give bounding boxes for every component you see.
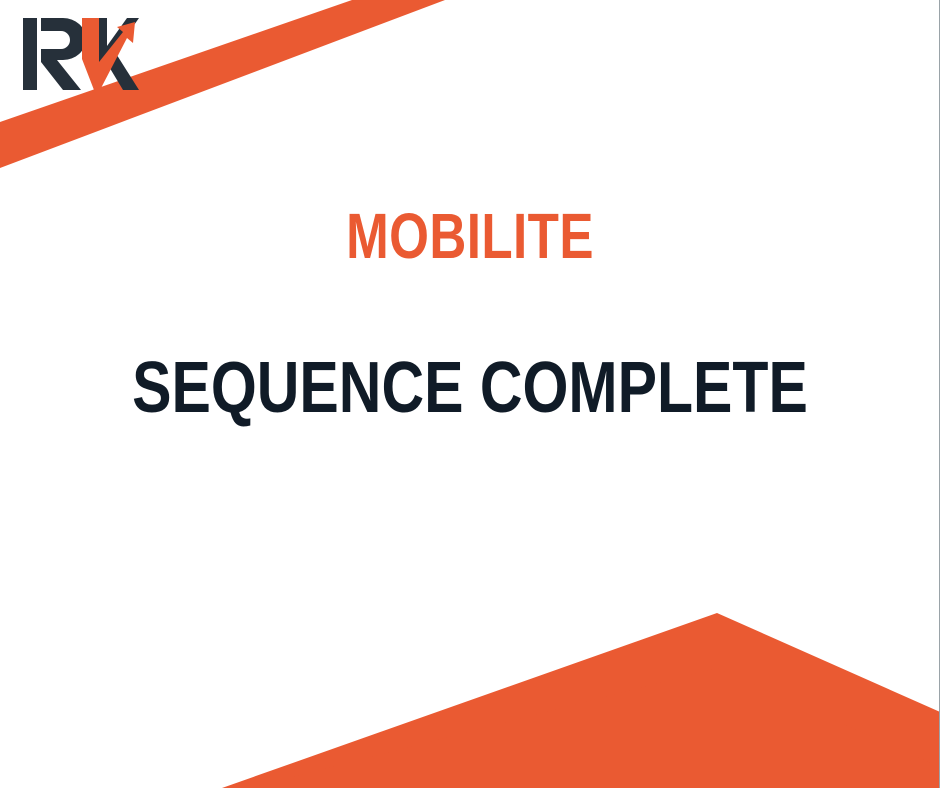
logo-letter-r-stem: [23, 18, 37, 90]
slide-canvas: MOBILITE SEQUENCE COMPLETE: [0, 0, 940, 788]
rk-logo: [23, 16, 139, 92]
chevron-upper-shape: [222, 613, 940, 788]
page-title: SEQUENCE COMPLETE: [85, 352, 856, 424]
logo-letter-r-bowl: [41, 18, 86, 90]
brand-title: MOBILITE: [94, 204, 846, 268]
chevron-lower-shape: [250, 668, 940, 788]
